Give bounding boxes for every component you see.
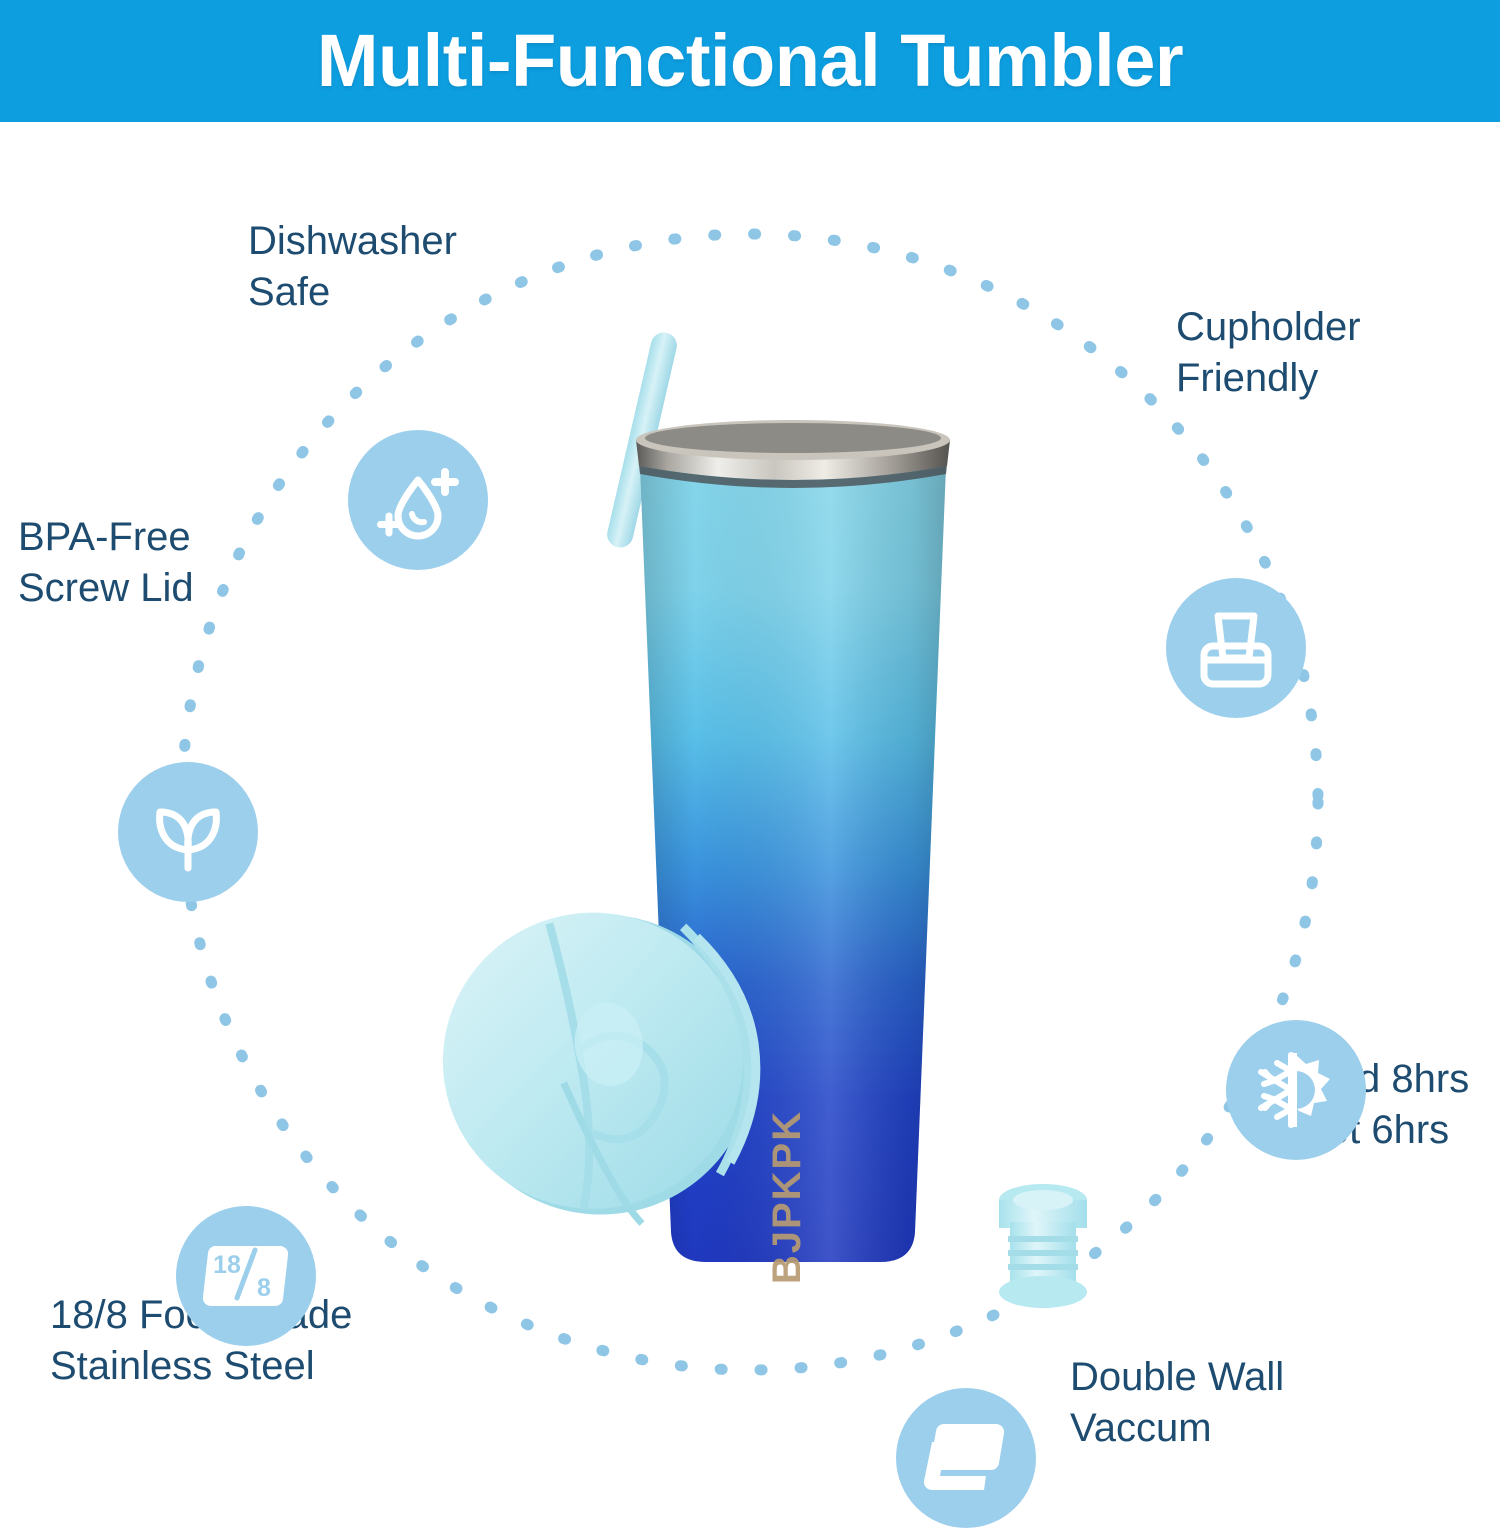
steel-rim-part bbox=[636, 420, 950, 488]
snowflake-sun-icon bbox=[1247, 1041, 1345, 1139]
plate-18-8-icon: 18/8 18 8 bbox=[194, 1230, 298, 1322]
feature-label-dishwasher-safe: Dishwasher Safe bbox=[248, 216, 457, 318]
stopper-plug-part bbox=[999, 1184, 1087, 1308]
header-banner: Multi-Functional Tumbler bbox=[0, 0, 1500, 122]
feature-label-cupholder-friendly: Cupholder Friendly bbox=[1176, 302, 1361, 404]
leaf-sprout-icon bbox=[140, 784, 236, 880]
water-drop-sparkle-icon bbox=[372, 454, 464, 546]
feature-icon-food-grade-steel: 18/8 18 8 bbox=[176, 1206, 316, 1346]
svg-text:8: 8 bbox=[257, 1274, 271, 1302]
feature-icon-cold-hot-retention bbox=[1226, 1020, 1366, 1160]
feature-icon-double-wall-vacuum bbox=[896, 1388, 1036, 1528]
cup-in-holder-icon bbox=[1190, 602, 1282, 694]
feature-icon-bpa-free-screw-lid bbox=[118, 762, 258, 902]
page-title: Multi-Functional Tumbler bbox=[317, 24, 1183, 98]
feature-icon-cupholder-friendly bbox=[1166, 578, 1306, 718]
double-layer-icon bbox=[918, 1412, 1014, 1504]
svg-text:18: 18 bbox=[213, 1251, 241, 1279]
infographic-stage: BJPKPK Dishwasher Safe Cupholder Friendl… bbox=[0, 122, 1500, 1470]
feature-label-double-wall-vacuum: Double Wall Vaccum bbox=[1070, 1352, 1284, 1454]
brand-mark: BJPKPK bbox=[765, 1110, 809, 1284]
feature-label-bpa-free-screw-lid: BPA-Free Screw Lid bbox=[18, 512, 194, 614]
feature-icon-dishwasher-safe bbox=[348, 430, 488, 570]
